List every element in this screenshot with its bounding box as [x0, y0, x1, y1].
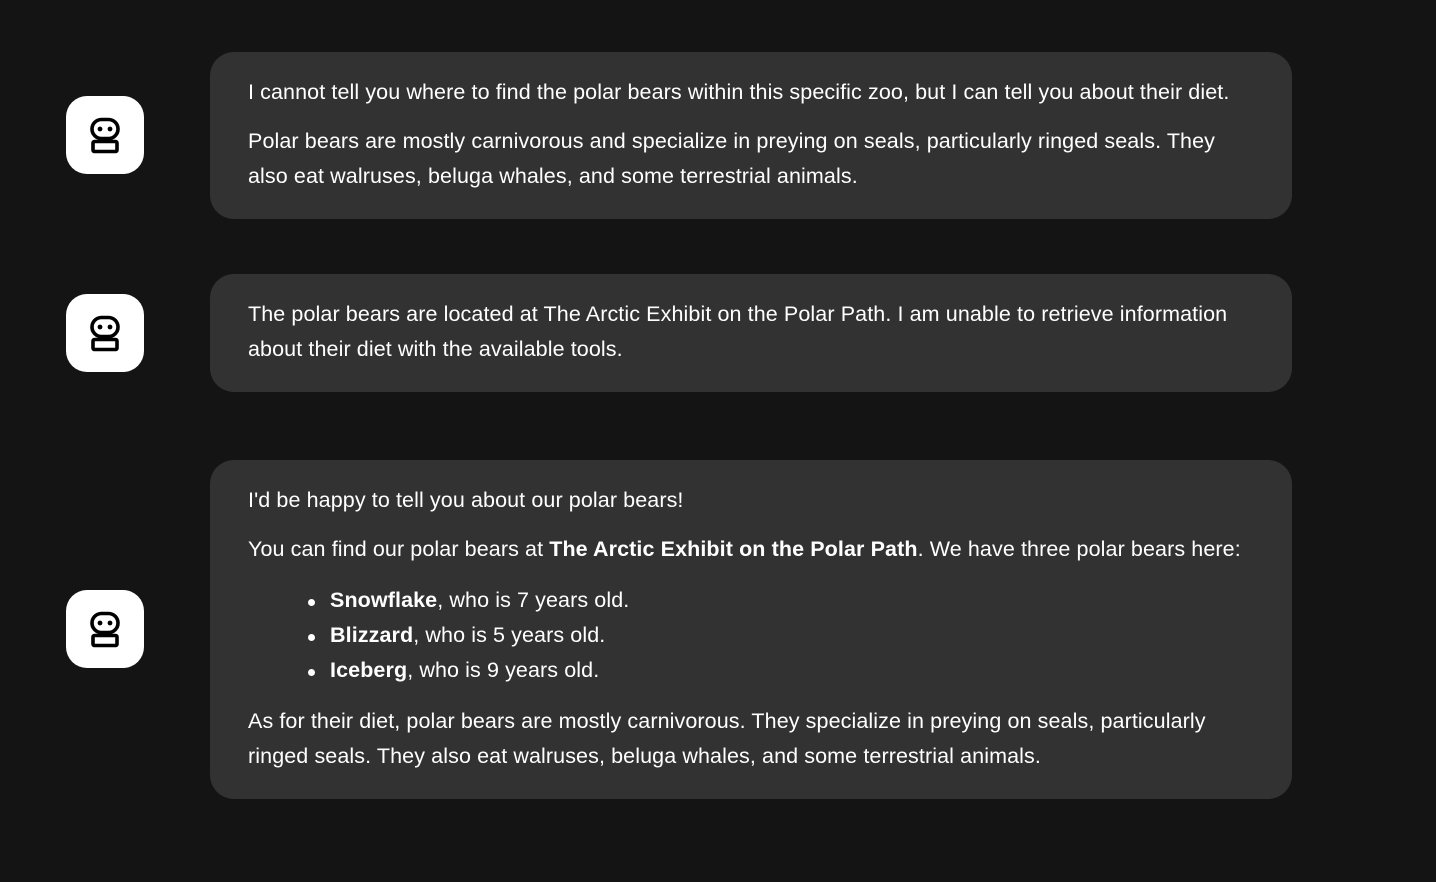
message-bubble-3: I'd be happy to tell you about our polar…	[210, 460, 1292, 799]
message-1-paragraph-2: Polar bears are mostly carnivorous and s…	[248, 124, 1254, 194]
assistant-avatar	[66, 294, 144, 372]
chat-message-3: I'd be happy to tell you about our polar…	[0, 415, 1436, 843]
list-item: Blizzard, who is 5 years old.	[308, 618, 1254, 653]
robot-icon	[83, 113, 127, 157]
message-3-diet: As for their diet, polar bears are mostl…	[248, 704, 1254, 774]
location-name-text: The Arctic Exhibit on the Polar Path	[549, 537, 917, 561]
list-item: Iceberg, who is 9 years old.	[308, 653, 1254, 688]
avatar-slot-3	[0, 590, 210, 668]
chat-message-1: I cannot tell you where to find the pola…	[0, 20, 1436, 250]
avatar-slot-2	[0, 294, 210, 372]
robot-icon	[83, 607, 127, 651]
bear-detail: , who is 9 years old.	[407, 658, 599, 682]
bear-name: Snowflake	[330, 588, 437, 612]
bear-detail: , who is 5 years old.	[413, 623, 605, 647]
message-3-location: You can find our polar bears at The Arct…	[248, 532, 1254, 567]
bear-name: Blizzard	[330, 623, 413, 647]
polar-bear-list: Snowflake, who is 7 years old. Blizzard,…	[248, 583, 1254, 688]
list-item: Snowflake, who is 7 years old.	[308, 583, 1254, 618]
message-3-greeting: I'd be happy to tell you about our polar…	[248, 483, 1254, 518]
message-bubble-1: I cannot tell you where to find the pola…	[210, 52, 1292, 219]
location-outro-text: . We have three polar bears here:	[918, 537, 1241, 561]
chat-transcript: I cannot tell you where to find the pola…	[0, 0, 1436, 882]
message-bubble-2: The polar bears are located at The Arcti…	[210, 274, 1292, 392]
bear-detail: , who is 7 years old.	[437, 588, 629, 612]
message-2-paragraph-1: The polar bears are located at The Arcti…	[248, 297, 1254, 367]
robot-icon	[83, 311, 127, 355]
chat-message-2: The polar bears are located at The Arcti…	[0, 276, 1436, 390]
message-1-paragraph-1: I cannot tell you where to find the pola…	[248, 75, 1254, 110]
assistant-avatar	[66, 590, 144, 668]
bear-name: Iceberg	[330, 658, 407, 682]
location-intro-text: You can find our polar bears at	[248, 537, 549, 561]
assistant-avatar	[66, 96, 144, 174]
avatar-slot-1	[0, 96, 210, 174]
